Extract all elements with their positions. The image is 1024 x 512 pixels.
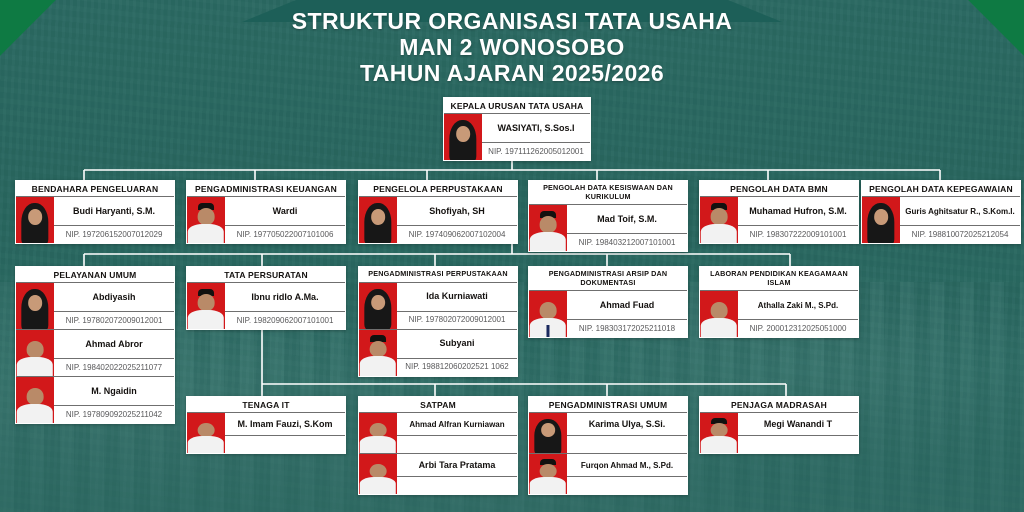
person-entry: Ahmad Alfran Kurniawan (359, 413, 517, 454)
person-entry: Muhamad Hufron, S.M.NIP. 198307222009101… (700, 197, 858, 243)
face-shape-icon (711, 423, 728, 437)
person-nip: NIP. 197802072009012001 (54, 312, 174, 329)
person-nip: NIP. 198810072025212054 (900, 226, 1020, 243)
shirt-shape-icon (530, 477, 566, 494)
person-entry: Guris Aghitsatur R., S.Kom.I.NIP. 198810… (862, 197, 1020, 243)
shirt-shape-icon (360, 436, 396, 453)
person-entry: Shofiyah, SHNIP. 197409062007102004 (359, 197, 517, 243)
person-photo (187, 283, 225, 329)
card-title: KEPALA URUSAN TATA USAHA (444, 98, 590, 114)
person-entry: Furqon Ahmad M., S.Pd. (529, 454, 687, 494)
person-photo (16, 197, 54, 243)
person-photo (529, 454, 567, 494)
person-name: Abdiyasih (54, 283, 174, 312)
title-line-3: TAHUN AJARAN 2025/2026 (0, 60, 1024, 86)
person-photo (359, 413, 397, 453)
person-nip: NIP. 197409062007102004 (397, 226, 517, 243)
person-nip (397, 477, 517, 494)
person-info: Ida KurniawatiNIP. 197802072009012001 (397, 283, 517, 329)
person-entry: WardiNIP. 197705022007101006 (187, 197, 345, 243)
person-nip (397, 436, 517, 453)
card-row4-1[interactable]: SATPAMAhmad Alfran KurniawanArbi Tara Pr… (358, 396, 518, 495)
person-nip: NIP. 197206152007012029 (54, 226, 174, 243)
face-shape-icon (27, 388, 44, 405)
person-entry: SubyaniNIP. 198812060202521 1062 (359, 330, 517, 376)
face-shape-icon (198, 208, 215, 225)
necktie-icon (546, 325, 549, 337)
card-title: SATPAM (359, 397, 517, 413)
person-nip: NIP. 198303172025211018 (567, 320, 687, 337)
face-shape-icon (541, 423, 555, 437)
card-title: LABORAN PENDIDIKAN KEAGAMAAN ISLAM (700, 267, 858, 291)
person-nip (738, 436, 858, 453)
card-title: BENDAHARA PENGELUARAN (16, 181, 174, 197)
person-photo (359, 283, 397, 329)
person-entry: Ibnu ridlo A.Ma.NIP. 198209062007101001 (187, 283, 345, 329)
person-nip (225, 436, 345, 453)
person-entry: Ahmad AbrorNIP. 198402022025211077 (16, 330, 174, 377)
person-name: Shofiyah, SH (397, 197, 517, 226)
person-info: Muhamad Hufron, S.M.NIP. 198307222009101… (738, 197, 858, 243)
face-shape-icon (370, 341, 387, 358)
person-info: M. Imam Fauzi, S.Kom (225, 413, 345, 453)
shirt-shape-icon (530, 232, 566, 251)
person-name: WASIYATI, S.Sos.I (482, 114, 590, 143)
person-nip: NIP. 198307222009101001 (738, 226, 858, 243)
person-name: Athalla Zaki M., S.Pd. (738, 291, 858, 320)
card-row2-1[interactable]: PENGADMINISTRASI KEUANGANWardiNIP. 19770… (186, 180, 346, 244)
card-title: PENGADMINISTRASI ARSIP DAN DOKUMENTASI (529, 267, 687, 291)
card-kepala-urusan-tata-usaha[interactable]: KEPALA URUSAN TATA USAHAWASIYATI, S.Sos.… (443, 97, 591, 161)
person-photo (187, 413, 225, 453)
person-photo (359, 454, 397, 494)
person-info: WardiNIP. 197705022007101006 (225, 197, 345, 243)
card-title: PENGOLAH DATA KEPEGAWAIAN (862, 181, 1020, 197)
shirt-shape-icon (17, 357, 53, 376)
card-row2-5[interactable]: PENGOLAH DATA KEPEGAWAIANGuris Aghitsatu… (861, 180, 1021, 244)
shirt-shape-icon (701, 224, 737, 243)
card-title: PENGADMINISTRASI PERPUSTAKAAN (359, 267, 517, 283)
person-photo (700, 291, 738, 337)
person-entry: WASIYATI, S.Sos.INIP. 197111262005012001 (444, 114, 590, 160)
person-name: Ibnu ridlo A.Ma. (225, 283, 345, 312)
person-photo (529, 291, 567, 337)
face-shape-icon (28, 295, 42, 311)
person-info: Arbi Tara Pratama (397, 454, 517, 494)
shirt-shape-icon (701, 436, 737, 453)
face-shape-icon (28, 209, 42, 225)
card-row3-2[interactable]: PENGADMINISTRASI PERPUSTAKAANIda Kurniaw… (358, 266, 518, 377)
face-shape-icon (371, 295, 385, 311)
card-title: TENAGA IT (187, 397, 345, 413)
person-entry: Arbi Tara Pratama (359, 454, 517, 494)
face-shape-icon (874, 209, 888, 225)
person-entry: Megi Wanandi T (700, 413, 858, 453)
person-photo (529, 205, 567, 251)
card-title: PENGADMINISTRASI KEUANGAN (187, 181, 345, 197)
face-shape-icon (371, 209, 385, 225)
person-name: Furqon Ahmad M., S.Pd. (567, 454, 687, 477)
card-title: PENGOLAH DATA BMN (700, 181, 858, 197)
face-shape-icon (540, 464, 557, 478)
person-info: WASIYATI, S.Sos.INIP. 197111262005012001 (482, 114, 590, 160)
person-info: M. NgaidinNIP. 197809092025211042 (54, 377, 174, 423)
card-title: PENJAGA MADRASAH (700, 397, 858, 413)
card-row4-0[interactable]: TENAGA ITM. Imam Fauzi, S.Kom (186, 396, 346, 454)
person-info: Mad Toif, S.M.NIP. 198403212007101001 (567, 205, 687, 251)
person-entry: M. Imam Fauzi, S.Kom (187, 413, 345, 453)
person-nip: NIP. 197802072009012001 (397, 312, 517, 329)
shirt-shape-icon (17, 404, 53, 423)
card-row3-0[interactable]: PELAYANAN UMUMAbdiyasihNIP. 197802072009… (15, 266, 175, 424)
person-info: Guris Aghitsatur R., S.Kom.I.NIP. 198810… (900, 197, 1020, 243)
page-title: STRUKTUR ORGANISASI TATA USAHA MAN 2 WON… (0, 8, 1024, 86)
card-title: TATA PERSURATAN (187, 267, 345, 283)
person-name: M. Ngaidin (54, 377, 174, 406)
card-row2-0[interactable]: BENDAHARA PENGELUARANBudi Haryanti, S.M.… (15, 180, 175, 244)
person-name: Subyani (397, 330, 517, 359)
face-shape-icon (456, 126, 470, 142)
shirt-shape-icon (188, 436, 224, 453)
person-entry: Ida KurniawatiNIP. 197802072009012001 (359, 283, 517, 330)
shirt-shape-icon (360, 477, 396, 494)
person-info: Ibnu ridlo A.Ma.NIP. 198209062007101001 (225, 283, 345, 329)
person-info: Ahmad AbrorNIP. 198402022025211077 (54, 330, 174, 376)
person-name: Karima Ulya, S.Si. (567, 413, 687, 436)
person-photo (359, 330, 397, 376)
person-name: Ida Kurniawati (397, 283, 517, 312)
person-entry: Ahmad FuadNIP. 198303172025211018 (529, 291, 687, 337)
card-title: PENGOLAH DATA KESISWAAN DAN KURIKULUM (529, 181, 687, 205)
person-nip: NIP. 198812060202521 1062 (397, 359, 517, 376)
person-photo (16, 283, 54, 329)
person-nip: NIP. 197111262005012001 (482, 143, 590, 160)
person-info: Furqon Ahmad M., S.Pd. (567, 454, 687, 494)
person-name: Mad Toif, S.M. (567, 205, 687, 234)
person-entry: Budi Haryanti, S.M.NIP. 1972061520070120… (16, 197, 174, 243)
person-entry: Athalla Zaki M., S.Pd.NIP. 2000123120250… (700, 291, 858, 337)
org-chart-poster: STRUKTUR ORGANISASI TATA USAHA MAN 2 WON… (0, 0, 1024, 512)
person-nip: NIP. 197705022007101006 (225, 226, 345, 243)
person-photo (359, 197, 397, 243)
person-name: Megi Wanandi T (738, 413, 858, 436)
person-info: Athalla Zaki M., S.Pd.NIP. 2000123120250… (738, 291, 858, 337)
person-name: Muhamad Hufron, S.M. (738, 197, 858, 226)
person-name: Ahmad Alfran Kurniawan (397, 413, 517, 436)
person-entry: Mad Toif, S.M.NIP. 198403212007101001 (529, 205, 687, 251)
face-shape-icon (198, 423, 215, 437)
face-shape-icon (198, 294, 215, 311)
person-info: SubyaniNIP. 198812060202521 1062 (397, 330, 517, 376)
face-shape-icon (711, 208, 728, 225)
shirt-shape-icon (701, 318, 737, 337)
person-nip: NIP. 200012312025051000 (738, 320, 858, 337)
card-row3-4[interactable]: LABORAN PENDIDIKAN KEAGAMAAN ISLAMAthall… (699, 266, 859, 338)
person-info: AbdiyasihNIP. 197802072009012001 (54, 283, 174, 329)
person-nip: NIP. 198209062007101001 (225, 312, 345, 329)
person-photo (187, 197, 225, 243)
person-name: Ahmad Fuad (567, 291, 687, 320)
card-row3-3[interactable]: PENGADMINISTRASI ARSIP DAN DOKUMENTASIAh… (528, 266, 688, 338)
card-row4-2[interactable]: PENGADMINISTRASI UMUMKarima Ulya, S.Si.F… (528, 396, 688, 495)
person-entry: M. NgaidinNIP. 197809092025211042 (16, 377, 174, 423)
person-nip (567, 477, 687, 494)
person-info: Shofiyah, SHNIP. 197409062007102004 (397, 197, 517, 243)
face-shape-icon (540, 302, 557, 319)
card-row3-1[interactable]: TATA PERSURATANIbnu ridlo A.Ma.NIP. 1982… (186, 266, 346, 330)
shirt-shape-icon (188, 224, 224, 243)
card-row2-4[interactable]: PENGOLAH DATA BMNMuhamad Hufron, S.M.NIP… (699, 180, 859, 244)
person-photo (700, 197, 738, 243)
person-info: Megi Wanandi T (738, 413, 858, 453)
shirt-shape-icon (360, 356, 396, 375)
person-name: Ahmad Abror (54, 330, 174, 359)
person-photo (700, 413, 738, 453)
face-shape-icon (370, 423, 387, 437)
person-info: Ahmad Alfran Kurniawan (397, 413, 517, 453)
person-name: M. Imam Fauzi, S.Kom (225, 413, 345, 436)
person-entry: Karima Ulya, S.Si. (529, 413, 687, 454)
face-shape-icon (540, 216, 557, 233)
person-photo (16, 330, 54, 376)
card-title: PENGELOLA PERPUSTAKAAN (359, 181, 517, 197)
person-info: Ahmad FuadNIP. 198303172025211018 (567, 291, 687, 337)
card-row2-2[interactable]: PENGELOLA PERPUSTAKAANShofiyah, SHNIP. 1… (358, 180, 518, 244)
title-line-1: STRUKTUR ORGANISASI TATA USAHA (0, 8, 1024, 34)
person-photo (529, 413, 567, 453)
person-nip: NIP. 198402022025211077 (54, 359, 174, 376)
face-shape-icon (27, 341, 44, 358)
face-shape-icon (711, 302, 728, 319)
person-nip (567, 436, 687, 453)
person-info: Karima Ulya, S.Si. (567, 413, 687, 453)
person-name: Arbi Tara Pratama (397, 454, 517, 477)
person-name: Guris Aghitsatur R., S.Kom.I. (900, 197, 1020, 226)
card-row2-3[interactable]: PENGOLAH DATA KESISWAAN DAN KURIKULUMMad… (528, 180, 688, 252)
person-photo (16, 377, 54, 423)
person-info: Budi Haryanti, S.M.NIP. 1972061520070120… (54, 197, 174, 243)
person-nip: NIP. 198403212007101001 (567, 234, 687, 251)
person-nip: NIP. 197809092025211042 (54, 406, 174, 423)
card-title: PENGADMINISTRASI UMUM (529, 397, 687, 413)
person-entry: AbdiyasihNIP. 197802072009012001 (16, 283, 174, 330)
person-name: Wardi (225, 197, 345, 226)
shirt-shape-icon (188, 310, 224, 329)
person-photo (862, 197, 900, 243)
face-shape-icon (370, 464, 387, 478)
person-name: Budi Haryanti, S.M. (54, 197, 174, 226)
card-row4-3[interactable]: PENJAGA MADRASAHMegi Wanandi T (699, 396, 859, 454)
card-title: PELAYANAN UMUM (16, 267, 174, 283)
title-line-2: MAN 2 WONOSOBO (0, 34, 1024, 60)
person-photo (444, 114, 482, 160)
